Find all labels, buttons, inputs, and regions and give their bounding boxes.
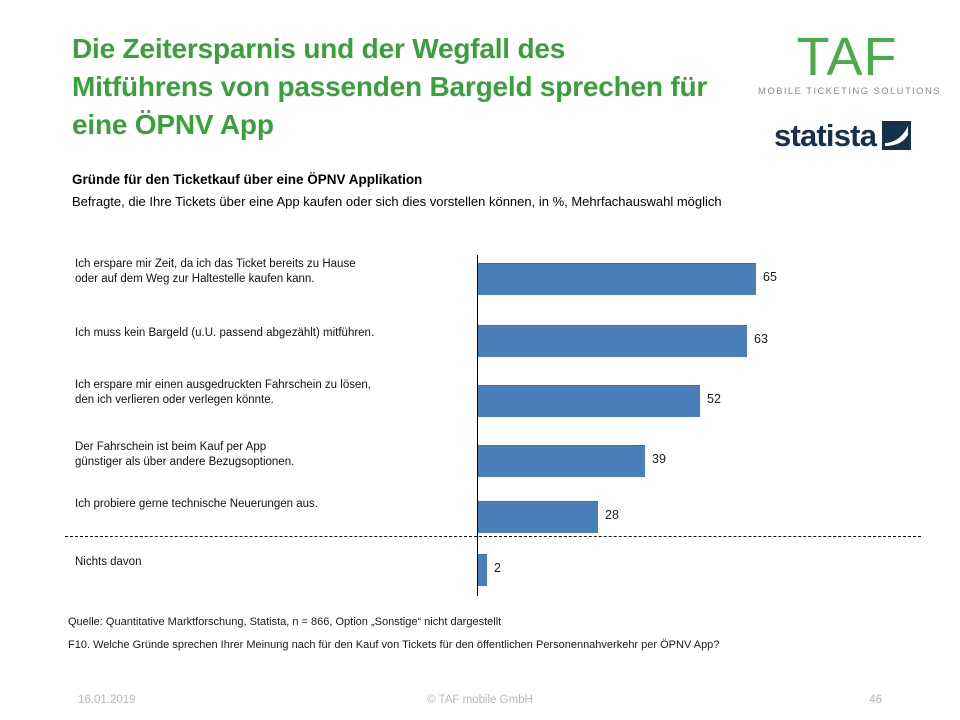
bar-category-label-line: Ich muss kein Bargeld (u.U. passend abge… (75, 326, 465, 341)
taf-wordmark: TAF (758, 30, 936, 84)
bar-category-label-line: oder auf dem Weg zur Haltestelle kaufen … (75, 272, 465, 287)
bar-category-label-line: Ich erspare mir einen ausgedruckten Fahr… (75, 378, 465, 393)
bar-fill (478, 554, 487, 586)
bar-value-label: 52 (707, 392, 721, 406)
logo-block: TAF MOBILE TICKETING SOLUTIONS statista (752, 28, 942, 158)
bar-fill (478, 445, 645, 477)
bar-category-label-line: den ich verlieren oder verlegen könnte. (75, 393, 465, 408)
bar[interactable] (478, 445, 645, 477)
slide-footer: 16.01.2019 © TAF mobile GmbH 46 (0, 694, 960, 714)
taf-logo: TAF MOBILE TICKETING SOLUTIONS (758, 30, 936, 97)
bar-fill (478, 501, 598, 533)
bar[interactable] (478, 385, 700, 417)
bar-value-label: 65 (763, 270, 777, 284)
bar-category-label: Ich probiere gerne technische Neuerungen… (75, 497, 465, 512)
bar-category-label: Ich muss kein Bargeld (u.U. passend abge… (75, 326, 465, 341)
bar[interactable] (478, 554, 487, 586)
bar-chart: Ich erspare mir Zeit, da ich das Ticket … (0, 245, 960, 600)
bar-category-label: Ich erspare mir Zeit, da ich das Ticket … (75, 257, 465, 287)
dashed-separator-line (65, 536, 921, 537)
bar[interactable] (478, 263, 756, 295)
bar-value-label: 39 (652, 452, 666, 466)
bar[interactable] (478, 325, 747, 357)
footer-copyright: © TAF mobile GmbH (0, 694, 960, 706)
bar-fill (478, 263, 756, 295)
bar-category-label: Der Fahrschein ist beim Kauf per Appgüns… (75, 440, 465, 470)
chart-axis-line (477, 255, 478, 596)
chart-subheading: Befragte, die Ihre Tickets über eine App… (72, 194, 722, 209)
source-block: Quelle: Quantitative Marktforschung, Sta… (68, 616, 908, 653)
bar-category-label: Nichts davon (75, 555, 465, 570)
bar-value-label: 2 (494, 561, 501, 575)
bar-category-label-line: Der Fahrschein ist beim Kauf per App (75, 440, 465, 455)
chart-heading: Gründe für den Ticketkauf über eine ÖPNV… (72, 172, 422, 187)
bar-value-label: 28 (605, 508, 619, 522)
bar-category-label-line: Ich erspare mir Zeit, da ich das Ticket … (75, 257, 465, 272)
statista-logo: statista (774, 120, 911, 151)
bar[interactable] (478, 501, 598, 533)
footer-page-number: 46 (869, 694, 882, 706)
statista-wordmark: statista (774, 120, 876, 151)
bar-category-label-line: günstiger als über andere Bezugsoptionen… (75, 455, 465, 470)
page-title: Die Zeitersparnis und der Wegfall des Mi… (72, 30, 712, 143)
taf-tagline: MOBILE TICKETING SOLUTIONS (758, 86, 936, 97)
bar-category-label: Ich erspare mir einen ausgedruckten Fahr… (75, 378, 465, 408)
bar-category-label-line: Nichts davon (75, 555, 465, 570)
source-question: F10. Welche Gründe sprechen Ihrer Meinun… (68, 639, 908, 653)
bar-fill (478, 325, 747, 357)
bar-category-label-line: Ich probiere gerne technische Neuerungen… (75, 497, 465, 512)
bar-value-label: 63 (754, 332, 768, 346)
statista-swoosh-icon (882, 121, 911, 150)
bar-fill (478, 385, 700, 417)
source-line: Quelle: Quantitative Marktforschung, Sta… (68, 616, 908, 630)
